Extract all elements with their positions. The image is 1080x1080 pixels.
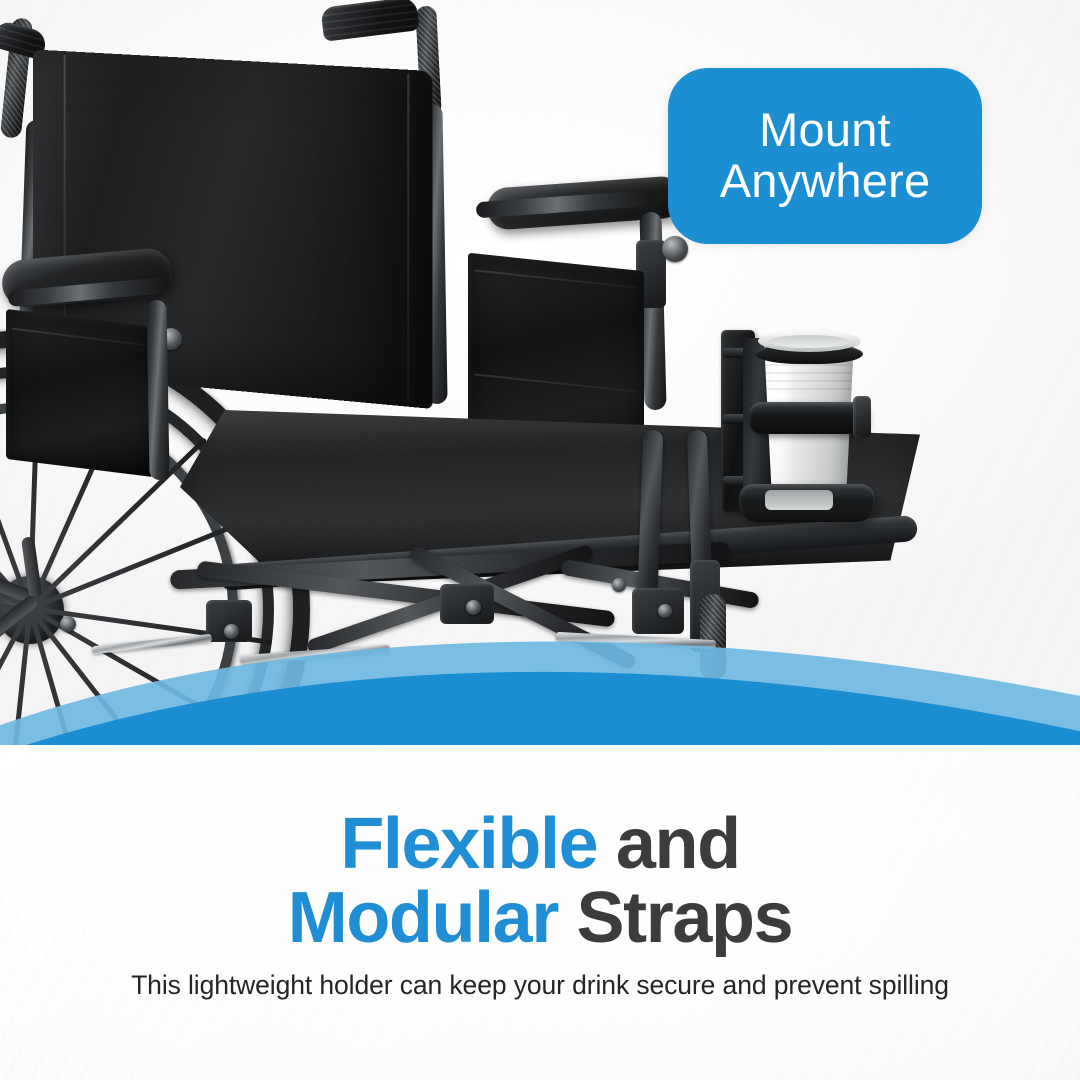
frame-bolt	[658, 604, 672, 618]
skirt-seam	[475, 373, 637, 392]
armrest-upright-left	[146, 300, 169, 480]
cup-rib	[763, 364, 855, 366]
frame-bolt	[224, 624, 239, 639]
side-skirt-panel-left	[6, 309, 154, 477]
headline-word-and: and	[616, 804, 740, 884]
cup-bottom	[765, 490, 833, 510]
subheadline: This lightweight holder can keep your dr…	[0, 970, 1080, 1001]
headline-line-1: Flexible and	[0, 807, 1080, 881]
bottom-text-panel: Flexible and Modular Straps This lightwe…	[0, 745, 1080, 1080]
cup-holder	[713, 318, 873, 528]
skirt-seam	[12, 328, 148, 347]
cup-rib	[763, 388, 855, 390]
badge-label: Mount Anywhere	[720, 105, 931, 207]
headline-word-straps: Straps	[577, 878, 793, 958]
frame-bolt	[612, 578, 626, 592]
backrest-seam	[407, 74, 409, 403]
headline-word-modular: Modular	[288, 878, 558, 958]
product-photo: Mount Anywhere	[0, 0, 1080, 760]
headline-line-2: Modular Straps	[0, 881, 1080, 955]
cup-opening	[768, 335, 850, 348]
strap-buckle	[853, 396, 871, 438]
mount-anywhere-badge[interactable]: Mount Anywhere	[668, 68, 982, 244]
cup-rib	[763, 380, 855, 382]
headline-word-flexible: Flexible	[340, 804, 597, 884]
product-banner: Mount Anywhere Flexible and Modular Stra…	[0, 0, 1080, 1080]
frame-bolt	[60, 616, 76, 632]
cup-rib	[763, 372, 855, 374]
push-handle-grip	[320, 0, 419, 42]
grip-texture	[320, 0, 419, 42]
cup-holder-strap	[749, 402, 867, 434]
skirt-seam	[475, 269, 637, 288]
armrest-knob	[662, 236, 688, 262]
frame-bolt	[466, 600, 481, 615]
headline: Flexible and Modular Straps	[0, 807, 1080, 955]
footrest-post	[700, 594, 726, 680]
